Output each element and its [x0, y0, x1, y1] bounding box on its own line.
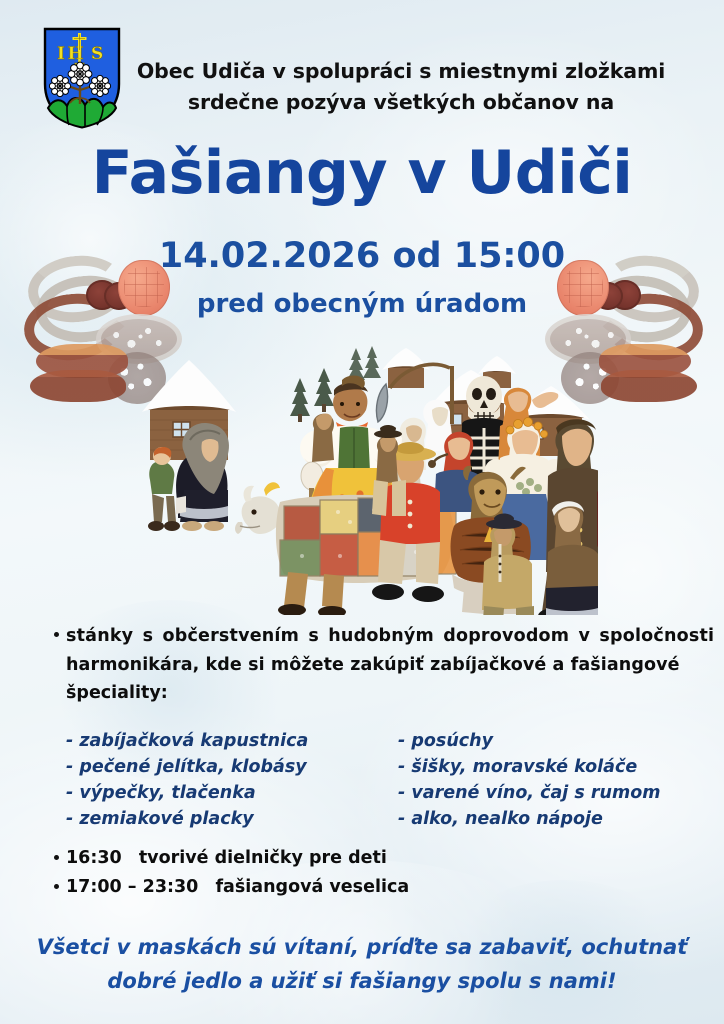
fir-tree: [314, 368, 334, 412]
svg-text:I: I: [57, 44, 65, 64]
menu-item: - varené víno, čaj s rumom: [398, 780, 660, 806]
fir-tree: [347, 348, 365, 380]
poster-header: I H S: [0, 16, 724, 126]
menu-column-right: - posúchy - šišky, moravské koláče - var…: [398, 728, 660, 832]
bacon-slab-icon: [601, 370, 697, 402]
schedule-list: 16:30 tvorivé dielničky pre deti 17:00 –…: [0, 844, 724, 902]
schedule-time: 17:00 – 23:30: [66, 877, 198, 897]
offer-line-2: harmonikára, kde si môžete zakúpiť zabíj…: [66, 651, 656, 680]
poster-body: stánky s občerstvením s hudobným doprovo…: [0, 622, 724, 708]
closing-line-2: dobré jedlo a užiť si fašiangy spolu s n…: [0, 964, 724, 998]
menu-item: - zemiakové placky: [66, 806, 308, 832]
svg-text:S: S: [91, 44, 103, 64]
ham-icon: [557, 260, 609, 316]
background-villager: [312, 414, 334, 463]
menu-item: - šišky, moravské koláče: [398, 754, 660, 780]
bullet-dot: [54, 884, 59, 889]
menu-item: - posúchy: [398, 728, 660, 754]
bullet-dot: [54, 855, 59, 860]
header-line-2: srdečne pozýva všetkých občanov na: [118, 87, 684, 118]
menu-item: - alko, nealko nápoje: [398, 806, 660, 832]
schedule-label: tvorivé dielničky pre deti: [139, 848, 387, 868]
invitation-header: Obec Udiča v spolupráci s miestnymi zlož…: [118, 56, 684, 118]
bacon-slab-icon: [30, 370, 126, 402]
menu-item: - pečené jelítka, klobásy: [66, 754, 308, 780]
closing-line-1: Všetci v maskách sú vítaní, príďte sa za…: [0, 930, 724, 964]
offer-bullet: stánky s občerstvením s hudobným doprovo…: [0, 622, 692, 708]
fir-tree: [363, 346, 381, 378]
offer-line-3: špeciality:: [66, 679, 656, 708]
fir-tree: [290, 378, 310, 422]
menu-item: - výpečky, tlačenka: [66, 780, 308, 806]
offer-line-1: stánky s občerstvením s hudobným doprovo…: [66, 622, 656, 651]
schedule-label: fašiangová veselica: [215, 877, 409, 897]
schedule-item: 17:00 – 23:30 fašiangová veselica: [0, 873, 724, 902]
svg-text:H: H: [68, 44, 84, 64]
page-title: Fašiangy v Udiči: [0, 142, 724, 204]
closing-invitation: Všetci v maskách sú vítaní, príďte sa za…: [0, 930, 724, 998]
menu-column-left: - zabíjačková kapustnica - pečené jelítk…: [66, 728, 308, 832]
menu-item: - zabíjačková kapustnica: [66, 728, 308, 754]
fasiangy-illustration: [128, 330, 598, 615]
coat-of-arms-icon: I H S: [42, 26, 122, 130]
poster-canvas: I H S: [0, 0, 724, 1024]
ham-icon: [118, 260, 170, 316]
schedule-time: 16:30: [66, 848, 122, 868]
cottage: [382, 348, 430, 388]
header-line-1: Obec Udiča v spolupráci s miestnymi zlož…: [118, 56, 684, 87]
bullet-dot: [54, 632, 59, 637]
schedule-item: 16:30 tvorivé dielničky pre deti: [0, 844, 724, 873]
